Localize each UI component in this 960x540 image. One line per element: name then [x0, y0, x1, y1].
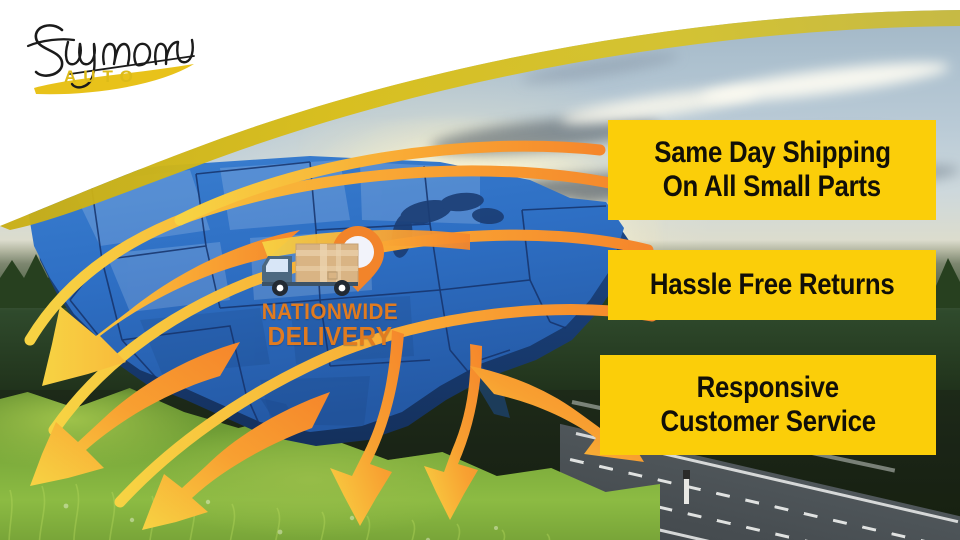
nationwide-line: NATIONWIDE — [255, 300, 405, 323]
nationwide-delivery-label: NATIONWIDE DELIVERY — [250, 300, 410, 351]
feature-line-2: Customer Service — [660, 405, 875, 439]
feature-banner-hassle-free-returns[interactable]: Hassle Free Returns — [608, 250, 936, 320]
delivery-truck-icon — [262, 244, 358, 296]
feature-banner-same-day-shipping[interactable]: Same Day Shipping On All Small Parts — [608, 120, 936, 220]
feature-line-2: On All Small Parts — [663, 170, 881, 204]
svg-text:AUTO: AUTO — [64, 67, 140, 86]
logo-auto-text: AUTO — [64, 67, 140, 86]
roadside-marker-post — [684, 470, 689, 504]
promo-banner: NATIONWIDE DELIVERY — [0, 0, 960, 540]
feature-line-1: Same Day Shipping — [654, 136, 890, 170]
delivery-line: DELIVERY — [255, 323, 405, 351]
feature-banner-responsive-customer-service[interactable]: Responsive Customer Service — [600, 355, 936, 455]
feature-line-1: Hassle Free Returns — [650, 268, 895, 302]
brand-logo[interactable]: AUTO — [18, 12, 208, 98]
feature-line-1: Responsive — [697, 371, 839, 405]
